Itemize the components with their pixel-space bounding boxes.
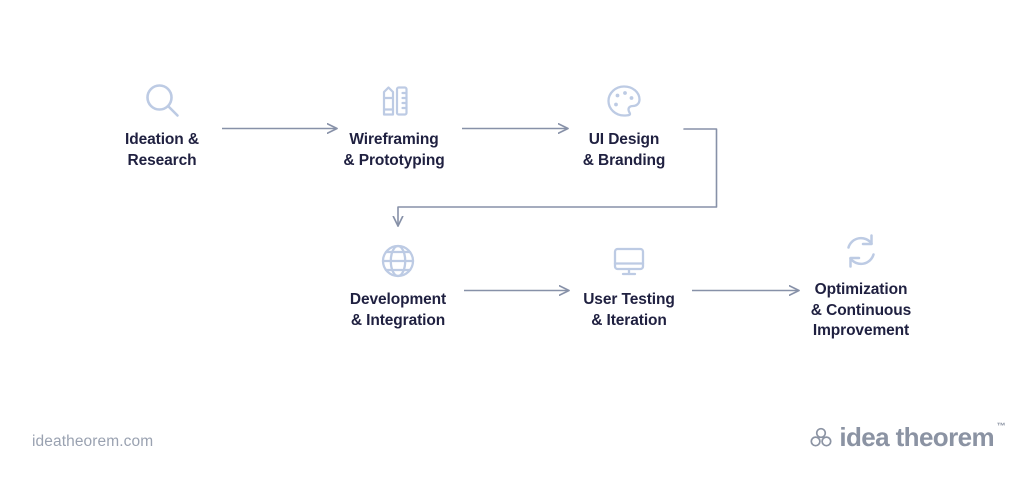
brand-name: idea theorem (839, 422, 994, 452)
step-label: Ideation & Research (125, 130, 199, 171)
process-step-optimization-improvement[interactable]: Optimization & Continuous Improvement (761, 228, 961, 342)
diagram-canvas: Ideation & Research Wireframing & Protot… (0, 0, 1024, 494)
step-label: UI Design & Branding (583, 130, 666, 171)
step-label: Wireframing & Prototyping (343, 130, 444, 171)
monitor-icon (606, 238, 652, 284)
process-step-ideation-research[interactable]: Ideation & Research (62, 78, 262, 171)
brand-wordmark: idea theorem ™ (839, 424, 994, 450)
footer-website-url[interactable]: ideatheorem.com (32, 433, 153, 451)
three-circles-logo-icon (810, 427, 832, 447)
globe-icon (375, 238, 421, 284)
process-step-wireframing-prototyping[interactable]: Wireframing & Prototyping (294, 78, 494, 171)
trademark-symbol: ™ (997, 422, 1005, 431)
step-label: Optimization & Continuous Improvement (811, 280, 911, 342)
brand-logo: idea theorem ™ (810, 424, 994, 450)
palette-icon (601, 78, 647, 124)
process-step-ui-design-branding[interactable]: UI Design & Branding (524, 78, 724, 171)
refresh-cycle-icon (838, 228, 884, 274)
process-step-user-testing-iteration[interactable]: User Testing & Iteration (529, 238, 729, 331)
magnifier-icon (139, 78, 185, 124)
pencil-ruler-icon (371, 78, 417, 124)
process-step-development-integration[interactable]: Development & Integration (298, 238, 498, 331)
step-label: User Testing & Iteration (583, 290, 675, 331)
step-label: Development & Integration (350, 290, 446, 331)
